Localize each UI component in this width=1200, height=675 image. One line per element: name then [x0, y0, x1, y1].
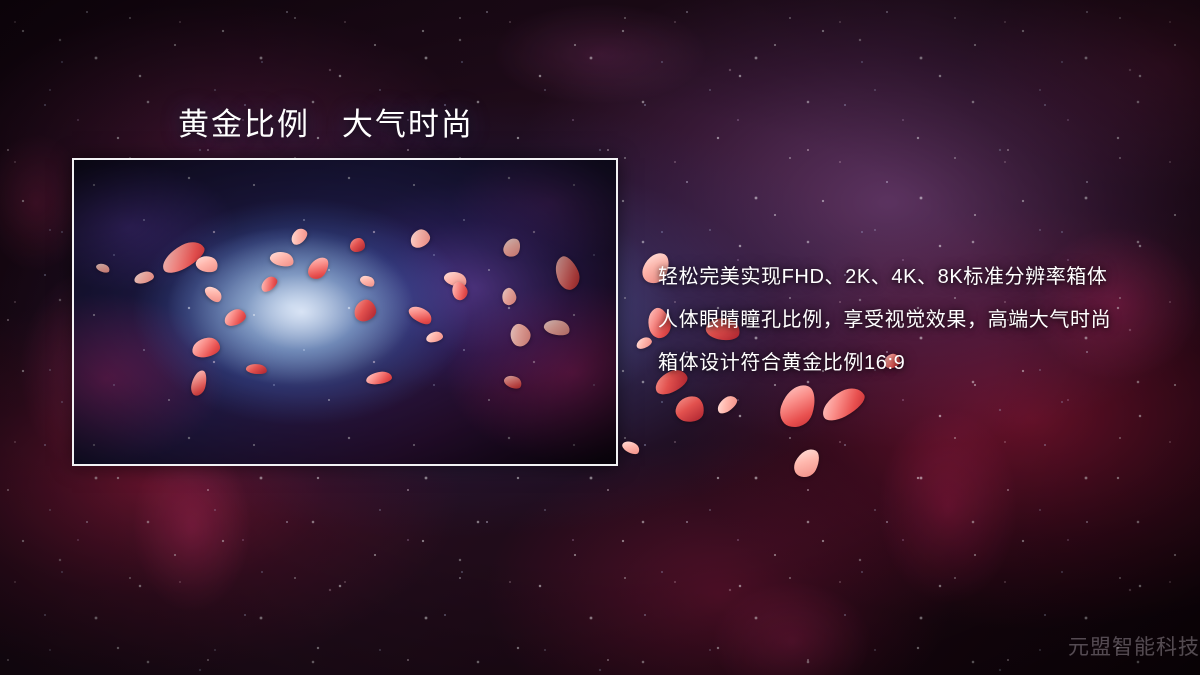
- petal-shape: [635, 336, 653, 351]
- petal-shape: [674, 394, 706, 424]
- petal-shape: [791, 445, 824, 482]
- framed-image-content: [74, 160, 616, 464]
- page-title: 黄金比例 大气时尚: [178, 99, 474, 144]
- petal-shape: [776, 380, 820, 432]
- presentation-slide: 黄金比例 大气时尚: [0, 0, 1200, 675]
- petal-shape: [620, 438, 641, 457]
- body-line: 轻松完美实现FHD、2K、4K、8K标准分辨率箱体: [658, 256, 1158, 299]
- petal-shape: [714, 393, 740, 416]
- body-line: 人体眼睛瞳孔比例，享受视觉效果，高端大气时尚: [658, 299, 1158, 342]
- body-text-block: 轻松完美实现FHD、2K、4K、8K标准分辨率箱体 人体眼睛瞳孔比例，享受视觉效…: [658, 256, 1158, 385]
- inner-vignette-overlay: [74, 160, 616, 464]
- petal-shape: [817, 383, 869, 426]
- framed-image: [72, 158, 618, 466]
- body-line: 箱体设计符合黄金比例16:9: [658, 342, 1158, 385]
- watermark-text: 元盟智能科技: [1068, 631, 1200, 661]
